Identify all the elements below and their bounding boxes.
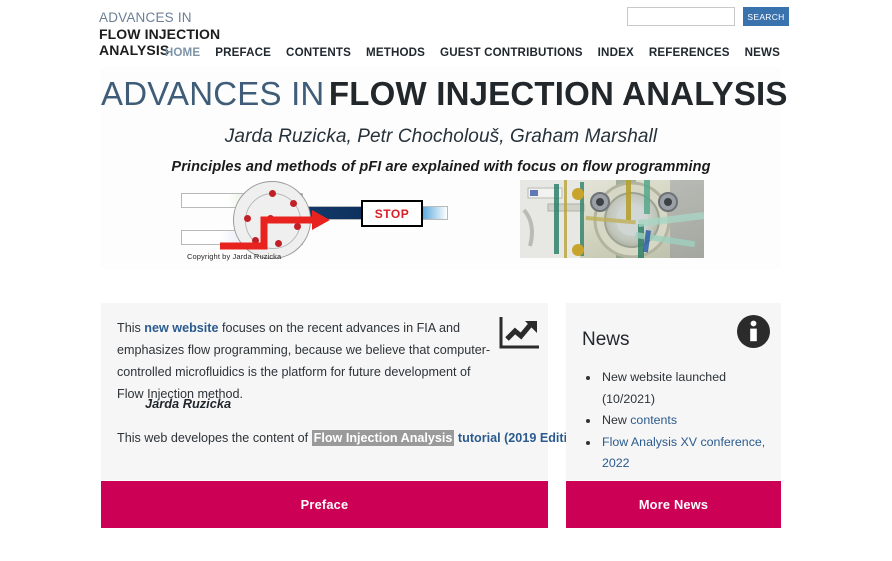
hero-banner: ADVANCES IN FLOW INJECTION ANALYSIS Jard… (101, 67, 781, 269)
logo-line-flow-injection: FLOW INJECTION (99, 26, 220, 43)
intro-card: This new website focuses on the recent a… (101, 303, 548, 480)
flow-injection-analysis-highlight[interactable]: Flow Injection Analysis (312, 430, 455, 446)
news-item-text: New website launched (10/2021) (602, 370, 726, 406)
diagram-stop-box: STOP (361, 200, 423, 227)
news-list-item[interactable]: Flow Analysis XV conference, 2022 (600, 432, 781, 475)
tutorial-paragraph: This web developes the content of Flow I… (117, 427, 537, 449)
news-list: New website launched (10/2021) New conte… (582, 367, 781, 475)
logo-line-advances-in: ADVANCES IN (99, 10, 220, 26)
hero-authors: Jarda Ruzicka, Petr Chocholouš, Graham M… (101, 126, 781, 148)
hero-subtitle: Principles and methods of pFI are explai… (101, 159, 781, 175)
flow-cell-photograph (520, 180, 704, 258)
diagram-copyright-caption: Copyright by Jarda Ruzicka (187, 252, 281, 261)
diagram-flow-arrow-icon (218, 206, 343, 252)
new-website-link[interactable]: new website (144, 321, 218, 335)
preface-button[interactable]: Preface (101, 481, 548, 528)
search-input[interactable] (627, 7, 735, 26)
hero-title: ADVANCES IN FLOW INJECTION ANALYSIS (101, 75, 781, 113)
intro-paragraph: This new website focuses on the recent a… (117, 317, 495, 405)
news-card-title: News (582, 329, 630, 351)
page-root: ADVANCES IN FLOW INJECTION ANALYSIS SEAR… (0, 0, 892, 561)
news-conference-link[interactable]: Flow Analysis XV conference, 2022 (602, 435, 765, 471)
nav-item-references[interactable]: REFERENCES (649, 46, 730, 59)
hero-title-bold: FLOW INJECTION ANALYSIS (329, 75, 788, 112)
search-form: SEARCH (627, 7, 789, 26)
nav-item-contents[interactable]: CONTENTS (286, 46, 351, 59)
tutorial-text-part1: This web developes the content of (117, 431, 312, 445)
diagram-valve-port (269, 190, 276, 197)
nav-item-index[interactable]: INDEX (598, 46, 634, 59)
site-header: ADVANCES IN FLOW INJECTION ANALYSIS SEAR… (0, 0, 892, 67)
flow-injection-diagram: STOP Copyright by Jarda Ruzicka (178, 180, 453, 262)
main-navigation: HOME PREFACE CONTENTS METHODS GUEST CONT… (165, 46, 780, 59)
intro-signature: Jarda Ruzicka (145, 396, 231, 411)
nav-item-guest-contributions[interactable]: GUEST CONTRIBUTIONS (440, 46, 583, 59)
nav-item-preface[interactable]: PREFACE (215, 46, 271, 59)
hero-title-light: ADVANCES IN (101, 75, 324, 112)
nav-item-home[interactable]: HOME (165, 46, 200, 59)
info-circle-icon (737, 315, 770, 348)
more-news-button[interactable]: More News (566, 481, 781, 528)
news-list-item[interactable]: New contents (600, 410, 781, 432)
news-item-text: New (602, 413, 630, 427)
chart-line-up-icon (497, 315, 541, 351)
nav-item-news[interactable]: NEWS (745, 46, 780, 59)
news-contents-link[interactable]: contents (630, 413, 677, 427)
news-list-item[interactable]: New website launched (10/2021) (600, 367, 781, 410)
nav-item-methods[interactable]: METHODS (366, 46, 425, 59)
news-card: News New website launched (10/2021) New … (566, 303, 781, 480)
search-button[interactable]: SEARCH (743, 7, 789, 26)
intro-text-part1: This (117, 321, 144, 335)
